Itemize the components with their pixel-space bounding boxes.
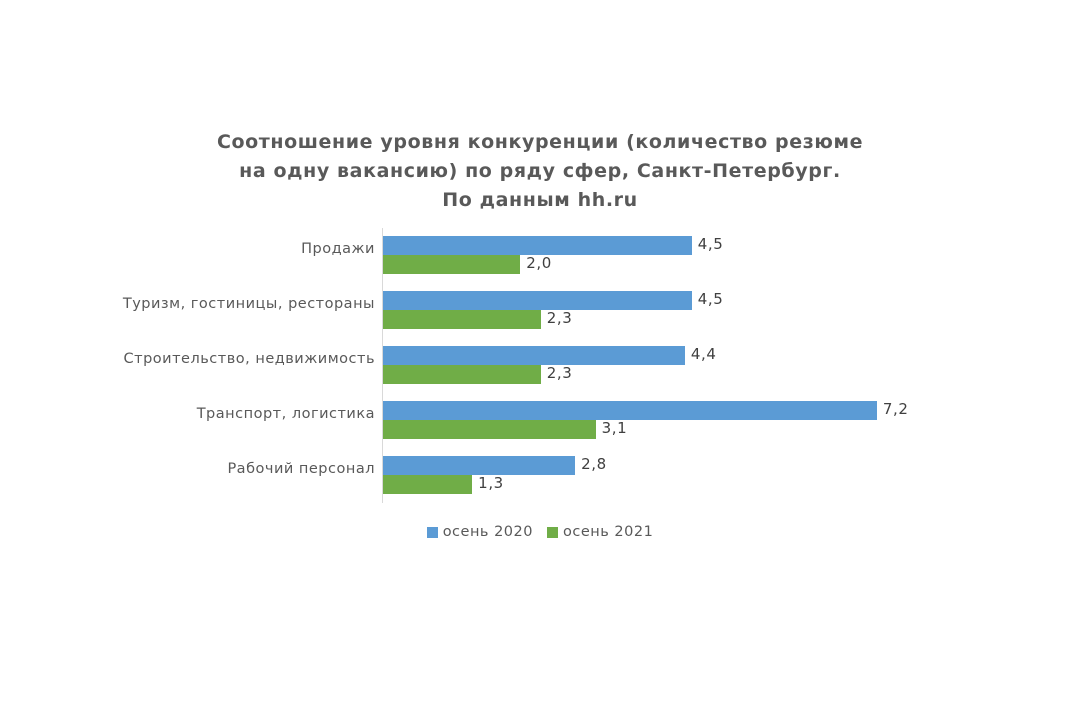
bar-group: Строительство, недвижимость4,42,3	[0, 346, 1080, 401]
bar-osen-2020[interactable]	[383, 456, 575, 475]
bar-group: Продажи4,52,0	[0, 236, 1080, 291]
bar-value-label: 2,8	[581, 455, 607, 473]
category-label: Рабочий персонал	[0, 461, 375, 477]
legend-swatch-icon	[427, 527, 438, 538]
chart-legend: осень 2020осень 2021	[0, 524, 1080, 540]
bar-value-label: 1,3	[478, 474, 504, 492]
chart-title: Соотношение уровня конкуренции (количест…	[140, 128, 940, 215]
bar-value-label: 2,3	[547, 309, 573, 327]
bar-value-label: 4,4	[691, 345, 717, 363]
bar-osen-2020[interactable]	[383, 346, 685, 365]
bar-value-label: 2,0	[526, 254, 552, 272]
plot-area: Продажи4,52,0Туризм, гостиницы, ресторан…	[0, 228, 1080, 510]
bar-osen-2020[interactable]	[383, 401, 877, 420]
bar-group: Туризм, гостиницы, рестораны4,52,3	[0, 291, 1080, 346]
legend-label: осень 2020	[443, 524, 533, 540]
bar-value-label: 4,5	[698, 290, 724, 308]
category-label: Туризм, гостиницы, рестораны	[0, 296, 375, 312]
bar-value-label: 4,5	[698, 235, 724, 253]
bar-osen-2021[interactable]	[383, 475, 472, 494]
category-label: Транспорт, логистика	[0, 406, 375, 422]
bar-group: Транспорт, логистика7,23,1	[0, 401, 1080, 456]
bar-value-label: 7,2	[883, 400, 909, 418]
legend-item-osen-2020[interactable]: осень 2020	[427, 524, 533, 540]
bar-osen-2021[interactable]	[383, 420, 596, 439]
bar-osen-2021[interactable]	[383, 365, 541, 384]
bar-osen-2021[interactable]	[383, 255, 520, 274]
legend-swatch-icon	[547, 527, 558, 538]
category-label: Строительство, недвижимость	[0, 351, 375, 367]
legend-item-osen-2021[interactable]: осень 2021	[547, 524, 653, 540]
category-label: Продажи	[0, 241, 375, 257]
legend-label: осень 2021	[563, 524, 653, 540]
bar-value-label: 2,3	[547, 364, 573, 382]
bar-value-label: 3,1	[602, 419, 628, 437]
bar-osen-2021[interactable]	[383, 310, 541, 329]
bar-group: Рабочий персонал2,81,3	[0, 456, 1080, 511]
bar-osen-2020[interactable]	[383, 291, 692, 310]
chart-container: Соотношение уровня конкуренции (количест…	[0, 0, 1080, 714]
bar-osen-2020[interactable]	[383, 236, 692, 255]
